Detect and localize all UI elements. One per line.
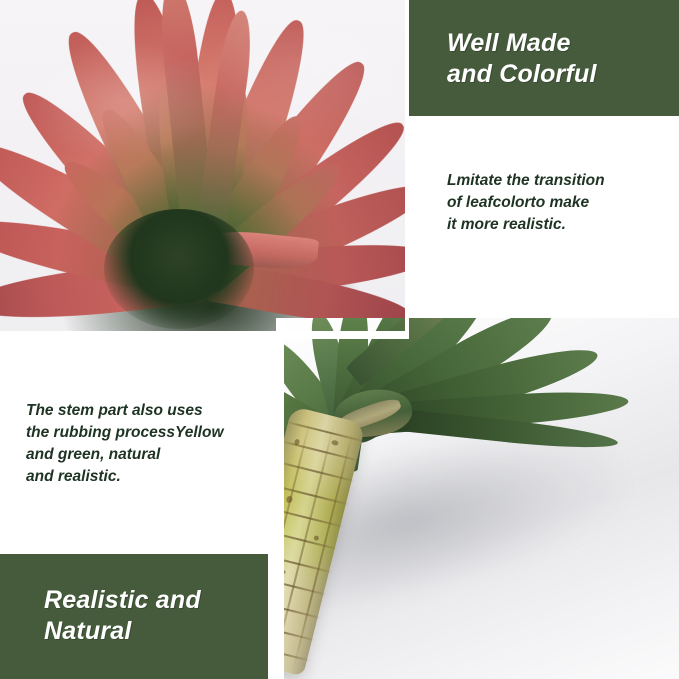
stem-speck [314,535,320,541]
stem-speck [331,440,339,447]
stem-speck [285,496,293,504]
stem-band [283,575,327,597]
feature-collage: Well Made and Colorful Lmitate the trans… [0,0,679,679]
right-copy-text: Lmitate the transition of leafcolorto ma… [447,170,663,236]
seam-vertical-bottom [276,318,284,679]
left-copy-text: The stem part also uses the rubbing proc… [26,400,269,488]
left-copy-block: The stem part also uses the rubbing proc… [0,338,283,553]
rosette-center [104,209,254,329]
header-title: Well Made and Colorful [447,28,679,91]
photo-succulent-rosette [0,0,407,333]
header-banner: Well Made and Colorful [407,0,679,118]
stem-band [283,529,338,551]
stem-band [283,552,332,574]
photo-plant-stem [283,318,679,679]
seam-horizontal-bottom [0,549,276,554]
seam-horizontal-top [0,331,409,339]
footer-title: Realistic and Natural [44,585,268,648]
seam-vertical-top [405,0,409,334]
seam-horizontal-header [407,116,679,119]
footer-banner: Realistic and Natural [0,553,268,679]
right-copy-block: Lmitate the transition of leafcolorto ma… [407,118,679,318]
